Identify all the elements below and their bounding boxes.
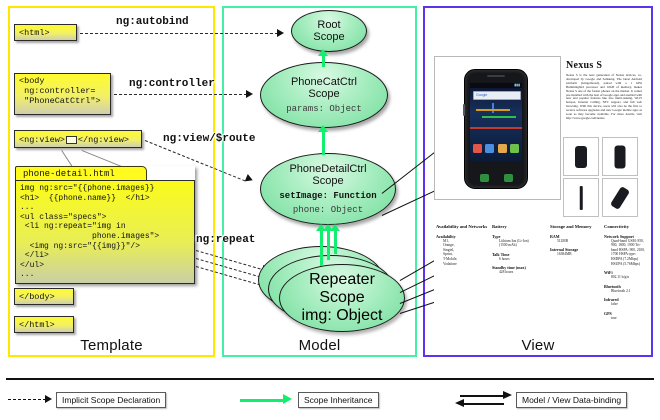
phone-illustration-icon: ▮▮▮ Google	[464, 69, 528, 189]
phone-hardware-buttons	[472, 172, 520, 183]
hero-image-frame: ▮▮▮ Google	[434, 56, 561, 200]
spec-table: Availability and Networks Availability M…	[436, 224, 642, 329]
spec-value-battery-type-1: (1500 mAh)	[499, 243, 548, 248]
scope-prop-params: params: Object	[286, 104, 362, 115]
scope-title-phonecatctrl-line1: PhoneCatCtrl	[291, 76, 357, 89]
scope-prop-setimage: setImage: Function	[279, 191, 376, 202]
legend-label-model-view-data-binding: Model / View Data-binding	[516, 392, 627, 408]
legend-binding-arrowhead-left-icon	[455, 399, 464, 407]
spec-value-internal-storage-0: 16384MB	[557, 252, 606, 257]
thumbnail-back[interactable]	[602, 137, 638, 176]
dash-autobind	[80, 33, 278, 34]
spec-value-bluetooth-0: Bluetooth 2.1	[611, 289, 648, 294]
code-card-source: img ng:src="{{phone.images}} <h1> {{phon…	[15, 180, 195, 284]
scope-oval-phonecatctrl: PhoneCatCtrl Scope params: Object	[260, 62, 388, 128]
spec-column-battery: Battery Type Lithium Ion (Li-Ion) (1500 …	[492, 224, 548, 275]
scope-oval-repeater-front: Repeater Scope img: Object	[279, 264, 405, 332]
spec-value-gps-0: true	[611, 316, 648, 321]
spec-column-availability: Availability and Networks Availability M…	[436, 224, 488, 266]
phone-search-glyph: Google	[476, 93, 487, 97]
spec-column-storage: Storage and Memory RAM 512MB Internal St…	[550, 224, 606, 257]
legend-dashed-arrowhead-icon	[45, 395, 52, 403]
ngview-open-label: <ng:view>	[19, 135, 65, 145]
phone-screen: ▮▮▮ Google	[470, 83, 522, 161]
inheritance-arrowhead-detail-to-catctrl	[318, 125, 328, 132]
legend-binding-arrowhead-right-icon	[503, 391, 512, 399]
scope-title-phonecatctrl-line2: Scope	[308, 88, 339, 101]
thumb-front-icon	[575, 146, 587, 168]
app-icon-1	[473, 144, 482, 153]
app-icon-4	[510, 144, 519, 153]
code-card-filename: phone-detail.html	[15, 166, 147, 181]
diagram-canvas: <html> <body ng:controller= "PhoneCatCtr…	[0, 0, 660, 420]
inheritance-arrow-catctrl-to-root	[322, 55, 325, 67]
scope-title-repeater-line2: Scope	[319, 289, 364, 307]
phone-app-icons	[473, 144, 519, 157]
phone-wallpaper-stripe-4	[470, 127, 522, 129]
spec-value-network-5: HSUPA (5.76Mbps)	[611, 262, 648, 267]
scope-oval-phonedetailctrl: PhoneDetailCtrl Scope setImage: Function…	[260, 153, 396, 225]
spec-value-infrared-0: false	[611, 302, 648, 307]
legend-green-line-icon	[240, 399, 284, 402]
spec-column-connectivity: Connectivity Network Support Quad-band G…	[604, 224, 648, 321]
dash-controller	[114, 94, 247, 95]
phone-speaker-icon	[487, 75, 505, 77]
phone-clock-icon: ▮▮▮	[514, 83, 520, 87]
thumb-side-icon	[580, 186, 583, 210]
scope-prop-img: img: Object	[302, 307, 383, 325]
scope-title-root-line2: Scope	[313, 31, 344, 44]
spec-header-battery: Battery	[492, 224, 548, 230]
legend-binding-line-bottom-icon	[460, 403, 504, 405]
ngview-placeholder-icon	[66, 136, 77, 144]
rendered-page-preview: ▮▮▮ Google	[434, 16, 642, 336]
app-icon-3	[498, 144, 507, 153]
tag-body-open: <body ng:controller= "PhoneCatCtrl">	[14, 73, 111, 115]
spec-value-ram-0: 512MB	[557, 239, 606, 244]
legend-label-scope-inheritance: Scope Inheritance	[298, 392, 379, 408]
legend-divider	[6, 378, 654, 380]
tag-html-close: </html>	[14, 316, 74, 333]
spec-header-availability: Availability and Networks	[436, 224, 488, 230]
spec-value-availability-5: Vodafone	[443, 262, 488, 267]
phone-wallpaper-stripe-1	[476, 109, 510, 111]
phone-search-widget-icon: Google	[473, 91, 521, 100]
legend-dashed-line-icon	[8, 399, 46, 400]
thumb-back-icon	[615, 145, 626, 168]
label-ng-repeat: ng:repeat	[196, 234, 255, 246]
scope-prop-phone: phone: Object	[293, 205, 363, 216]
inheritance-arrow-repeater-a	[320, 230, 323, 266]
tag-html-open: <html>	[14, 24, 77, 41]
scope-title-phonedetailctrl-line2: Scope	[312, 175, 343, 188]
phone-wallpaper-stripe-3	[492, 103, 494, 113]
thumbnail-side[interactable]	[563, 178, 599, 217]
legend-label-implicit-scope-declaration: Implicit Scope Declaration	[56, 392, 166, 408]
inheritance-arrow-repeater-c	[334, 230, 337, 254]
phone-wallpaper-stripe-2	[482, 116, 516, 118]
scope-title-phonedetailctrl-line1: PhoneDetailCtrl	[289, 163, 366, 176]
arrowhead-autobind	[277, 29, 284, 37]
scope-title-root-line1: Root	[317, 19, 340, 32]
spec-value-battery-talk-0: 6 hours	[499, 257, 548, 262]
product-description: Nexus S is the next generation of Nexus …	[566, 74, 642, 121]
inheritance-arrow-detail-to-catctrl	[322, 131, 325, 155]
arrowhead-controller	[246, 90, 253, 98]
inheritance-arrowhead-catctrl-to-root	[318, 49, 328, 56]
label-ng-controller: ng:controller	[129, 78, 215, 90]
legend-green-arrowhead-icon	[283, 394, 292, 404]
code-card-phone-detail: phone-detail.html img ng:src="{{phone.im…	[15, 166, 195, 284]
spec-header-storage: Storage and Memory	[550, 224, 606, 230]
tag-body-close: </body>	[14, 288, 74, 305]
spec-header-connectivity: Connectivity	[604, 224, 648, 230]
scope-oval-root: Root Scope	[291, 10, 367, 52]
phone-side-button-icon	[463, 104, 465, 116]
phone-statusbar: ▮▮▮	[470, 83, 522, 88]
inheritance-arrow-repeater-b	[327, 230, 330, 260]
phone-button-back-icon	[480, 174, 489, 182]
product-title: Nexus S	[566, 60, 602, 71]
inheritance-arrowhead-repeater-c	[330, 224, 340, 231]
ngview-close-label: </ng:view>	[78, 135, 129, 145]
label-ng-view-route: ng:view/$route	[163, 133, 255, 145]
thumb-angled-icon	[610, 186, 630, 210]
thumbnail-front[interactable]	[563, 137, 599, 176]
tag-ngview: <ng:view></ng:view>	[14, 130, 142, 148]
scope-title-repeater-line1: Repeater	[309, 271, 375, 289]
spec-value-battery-standby-0: 428 hours	[499, 270, 548, 275]
spec-value-wifi-0: 802.11 b/g/n	[611, 275, 648, 280]
thumbnail-angled[interactable]	[602, 178, 638, 217]
phone-button-home-icon	[504, 174, 513, 182]
legend-binding-line-top-icon	[460, 395, 504, 397]
app-icon-2	[485, 144, 494, 153]
label-ng-autobind: ng:autobind	[116, 16, 189, 28]
